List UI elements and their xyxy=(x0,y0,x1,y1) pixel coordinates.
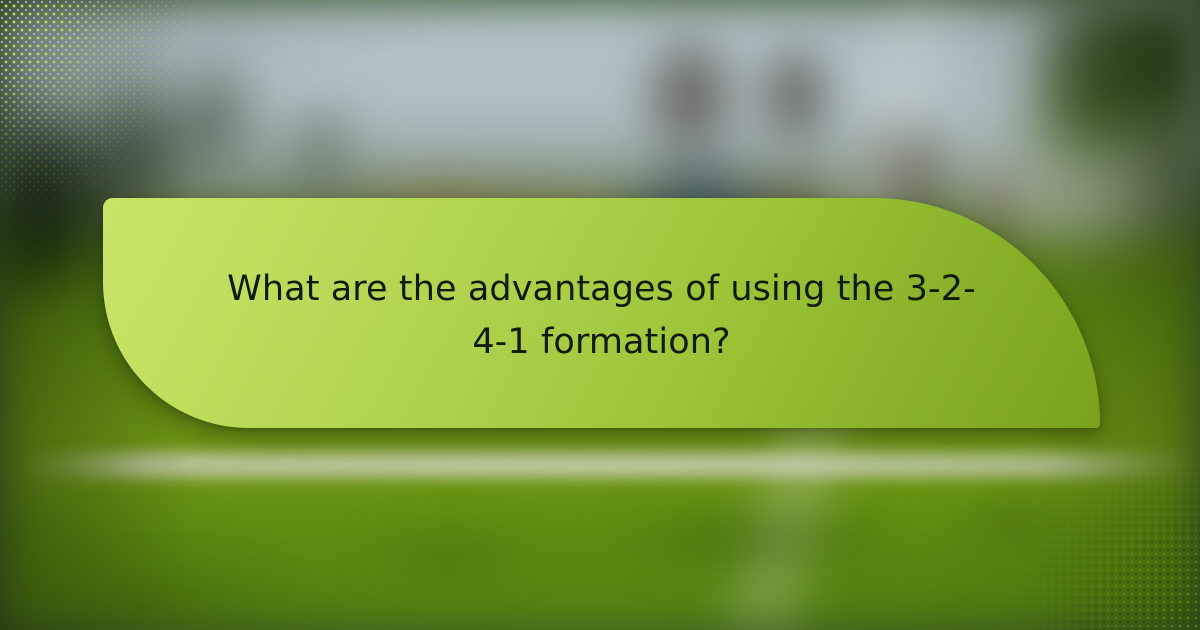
question-card: What are the advantages of using the 3-2… xyxy=(103,198,1100,428)
halftone-dots-bottom-right-icon xyxy=(985,415,1200,630)
share-card-canvas: What are the advantages of using the 3-2… xyxy=(0,0,1200,630)
question-text: What are the advantages of using the 3-2… xyxy=(223,263,980,369)
background-field-line xyxy=(0,452,1200,478)
halftone-dots-top-left-icon xyxy=(0,0,230,230)
